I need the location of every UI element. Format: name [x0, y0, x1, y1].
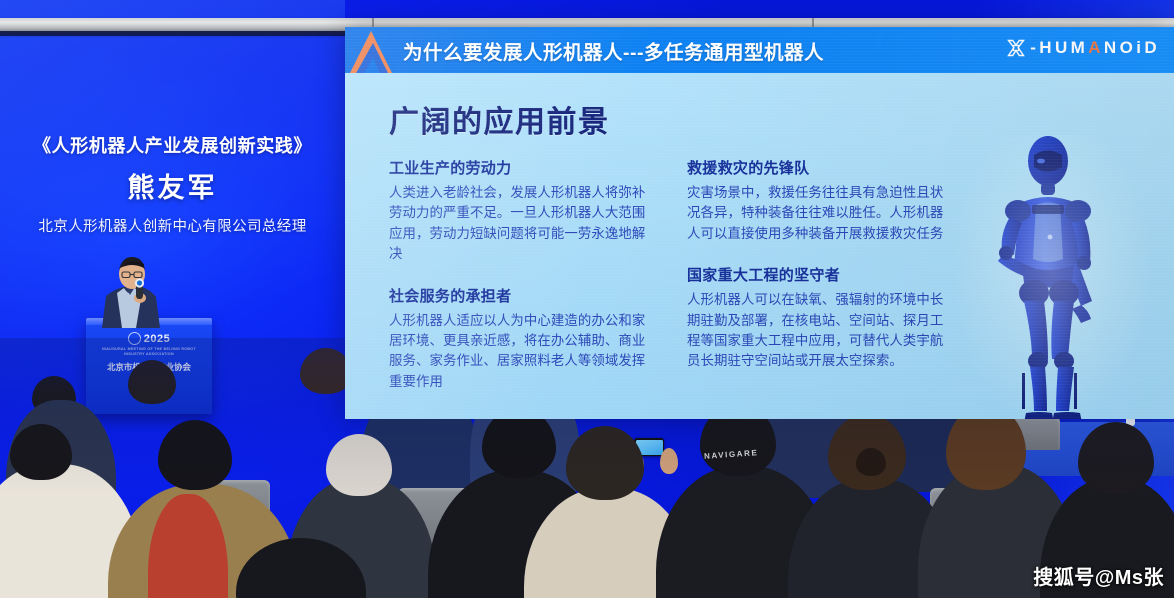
slide-title: 为什么要发展人形机器人---多任务通用型机器人	[403, 36, 824, 65]
audience-head	[566, 426, 644, 500]
x-mark-icon	[1006, 38, 1026, 58]
watermark: 搜狐号@Ms张	[1033, 561, 1164, 590]
audience-head	[10, 424, 72, 480]
brand-word-accent: A	[1088, 38, 1104, 57]
speaker-icon	[96, 252, 166, 328]
chevron-brand-icon	[345, 27, 407, 73]
block-text: 人形机器人可以在缺氧、强辐射的环境中长期驻勤及部署，在核电站、空间站、探月工程等…	[687, 290, 949, 372]
caption-talk-title: 《人形机器人产业发展创新实践》	[0, 132, 345, 158]
block-title: 国家重大工程的坚守者	[687, 264, 949, 285]
slide-body: 广阔的应用前景 工业生产的劳动力 人类进入老龄社会，发展人形机器人将弥补劳动力的…	[345, 73, 1174, 419]
brand-word-post: NOiD	[1104, 38, 1160, 57]
slide-column-left: 工业生产的劳动力 人类进入老龄社会，发展人形机器人将弥补劳动力的严重不足。一旦人…	[389, 157, 651, 412]
audience-hand	[660, 448, 678, 474]
brand-word-pre: -HUM	[1030, 38, 1088, 57]
slide-header-bar: 为什么要发展人形机器人---多任务通用型机器人 -HUMANOiD	[345, 27, 1174, 73]
audience-head	[158, 420, 232, 490]
content-block: 国家重大工程的坚守者 人形机器人可以在缺氧、强辐射的环境中长期驻勤及部署，在核电…	[687, 264, 949, 372]
brand-wordmark: -HUMANOiD	[1030, 38, 1160, 58]
content-block: 社会服务的承担者 人形机器人适应以人为中心建造的办公和家居环境、更具亲近感，将在…	[389, 285, 651, 393]
block-text: 人类进入老龄社会，发展人形机器人将弥补劳动力的严重不足。一旦人形机器人大范围应用…	[389, 183, 651, 265]
screenshot-root: 为什么要发展人形机器人---多任务通用型机器人 -HUMANOiD 广阔的应用前…	[0, 0, 1174, 598]
x-humanoid-logo: -HUMANOiD	[1006, 38, 1160, 58]
block-title: 工业生产的劳动力	[389, 157, 651, 178]
content-block: 工业生产的劳动力 人类进入老龄社会，发展人形机器人将弥补劳动力的严重不足。一旦人…	[389, 157, 651, 265]
block-text: 人形机器人适应以人为中心建造的办公和家居环境、更具亲近感，将在办公辅助、商业服务…	[389, 311, 651, 393]
slide-columns: 工业生产的劳动力 人类进入老龄社会，发展人形机器人将弥补劳动力的严重不足。一旦人…	[389, 157, 949, 412]
slide-column-right: 救援救灾的先锋队 灾害场景中，救援任务往往具有急迫性且状况各异，特种装备往往难以…	[687, 157, 949, 412]
audience-head	[326, 434, 392, 496]
block-title: 救援救灾的先锋队	[687, 157, 949, 178]
content-block: 救援救灾的先锋队 灾害场景中，救援任务往往具有急迫性且状况各异，特种装备往往难以…	[687, 157, 949, 244]
audience-head	[128, 360, 176, 404]
audience-hairbun	[856, 448, 886, 476]
speaker-figure	[96, 252, 166, 328]
block-title: 社会服务的承担者	[389, 285, 651, 306]
humanoid-robot-illustration	[968, 125, 1128, 419]
block-text: 灾害场景中，救援任务往往具有急迫性且状况各异，特种装备往往难以胜任。人形机器人可…	[687, 183, 949, 244]
caption-speaker-role: 北京人形机器人创新中心有限公司总经理	[0, 215, 345, 236]
robot-glow	[946, 135, 1156, 419]
presentation-screen: 为什么要发展人形机器人---多任务通用型机器人 -HUMANOiD 广阔的应用前…	[345, 27, 1174, 419]
lower-third-caption: 《人形机器人产业发展创新实践》 熊友军 北京人形机器人创新中心有限公司总经理	[0, 132, 345, 236]
caption-speaker-name: 熊友军	[0, 166, 345, 205]
